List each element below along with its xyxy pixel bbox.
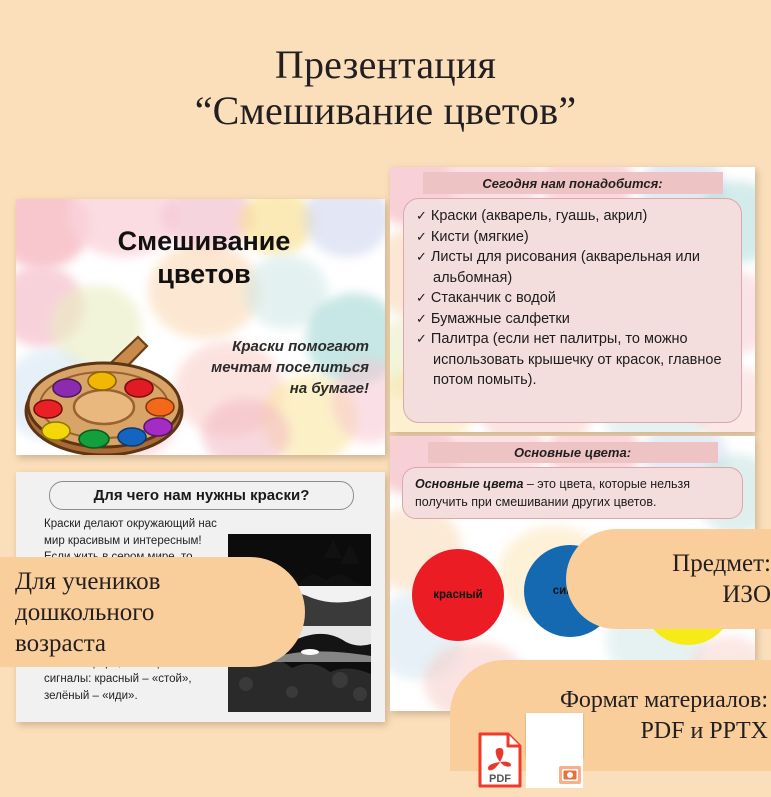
file-format-icons: PDF	[478, 701, 583, 757]
check-icon: ✓	[416, 249, 431, 264]
page-title: Презентация “Смешивание цветов”	[0, 42, 771, 134]
supplies-banner-label: Сегодня нам понадобится:	[482, 176, 662, 191]
list-item: ✓Кисти (мягкие)	[416, 227, 731, 248]
check-icon: ✓	[416, 229, 431, 244]
why-paints-title-pill: Для чего нам нужны краски?	[49, 481, 354, 510]
slide-title-heading: Смешивание цветов	[94, 225, 314, 291]
primary-colors-definition-box: Основные цвета – это цвета, которые нель…	[402, 467, 743, 519]
pptx-file-icon	[526, 713, 583, 757]
paint-palette-icon	[22, 331, 187, 455]
supplies-list: ✓Краски (акварель, гуашь, акрил) ✓Кисти …	[416, 206, 731, 391]
slide-title-tagline: Краски помогают мечтам поселиться на бум…	[164, 336, 369, 399]
check-icon: ✓	[416, 331, 431, 346]
slide-preview-supplies[interactable]: Сегодня нам понадобится: ✓Краски (акваре…	[390, 167, 755, 432]
color-circle-red: красный	[412, 549, 504, 641]
color-circle-label: красный	[433, 589, 482, 601]
check-icon: ✓	[416, 290, 431, 305]
primary-colors-banner: Основные цвета:	[428, 442, 718, 463]
primary-colors-banner-label: Основные цвета:	[514, 445, 631, 460]
poster-canvas: Презентация “Смешивание цветов” Смешиван…	[0, 0, 771, 771]
badge-format: Формат материалов: PDF и PPTX PDF	[450, 660, 771, 771]
supplies-list-box: ✓Краски (акварель, гуашь, акрил) ✓Кисти …	[403, 198, 742, 423]
svg-text:PDF: PDF	[489, 773, 511, 785]
list-item: ✓Листы для рисования (акварельная или ал…	[416, 247, 731, 288]
slide-preview-title[interactable]: Смешивание цветов Краски помогают мечтам…	[16, 199, 385, 455]
badge-subject: Предмет: ИЗО	[566, 529, 771, 629]
pdf-file-icon: PDF	[478, 701, 522, 757]
badge-audience: Для учеников дошкольного возраста	[0, 557, 305, 667]
definition-term: Основные цвета	[415, 477, 523, 491]
supplies-banner: Сегодня нам понадобится:	[423, 172, 723, 194]
list-item: ✓Бумажные салфетки	[416, 309, 731, 330]
check-icon: ✓	[416, 208, 431, 223]
list-item: ✓Краски (акварель, гуашь, акрил)	[416, 206, 731, 227]
why-paints-title: Для чего нам нужны краски?	[94, 487, 310, 504]
list-item: ✓Палитра (если нет палитры, то можно исп…	[416, 329, 731, 391]
badge-format-label: Формат материалов: PDF и PPTX	[560, 685, 768, 747]
list-item: ✓Стаканчик с водой	[416, 288, 731, 309]
check-icon: ✓	[416, 311, 431, 326]
